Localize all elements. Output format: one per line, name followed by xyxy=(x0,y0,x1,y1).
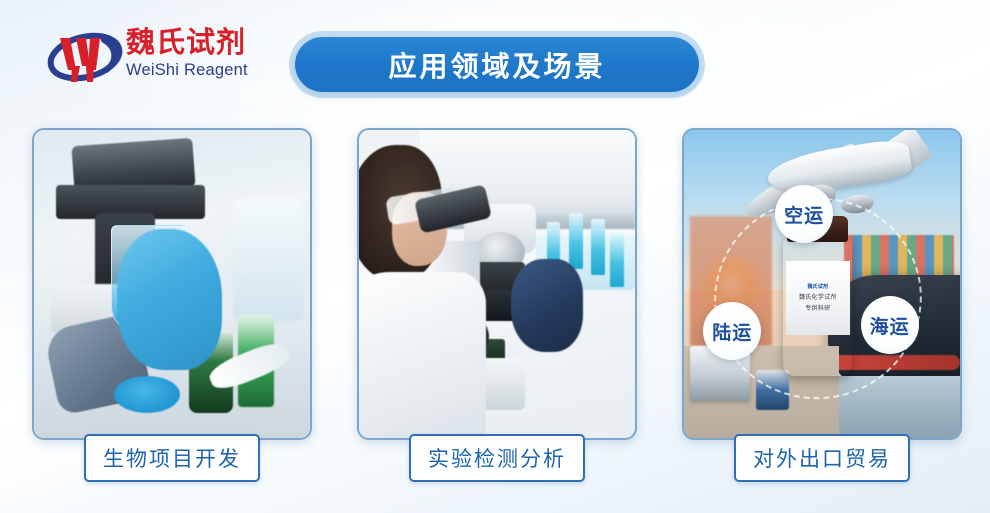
bio-project-photo xyxy=(34,130,310,438)
card-label-export-trade-text: 对外出口贸易 xyxy=(753,443,891,473)
export-trade-photo: 魏氏试剂 魏氏化学试剂 专供科研 空运 陆运 海运 xyxy=(684,130,960,438)
brand-name-en: WeiShi Reagent xyxy=(126,60,276,80)
brand-name-cn: 魏氏试剂 xyxy=(126,26,276,58)
brand-logo-text: 魏氏试剂 WeiShi Reagent xyxy=(126,26,276,88)
badge-air-label: 空运 xyxy=(784,201,824,228)
card-label-bio-project[interactable]: 生物项目开发 xyxy=(84,434,260,482)
bottle-brand-text: 魏氏试剂 xyxy=(807,283,828,290)
card-label-bio-project-text: 生物项目开发 xyxy=(103,443,241,473)
bottle-line-1: 魏氏化学试剂 xyxy=(799,292,837,301)
section-title-banner: 应用领域及场景 xyxy=(295,37,699,92)
page-title: 应用领域及场景 xyxy=(388,45,605,85)
scenario-card-lab-analysis[interactable] xyxy=(357,128,637,440)
card-label-lab-analysis-text: 实验检测分析 xyxy=(428,443,566,473)
scenario-card-grid: 魏氏试剂 魏氏化学试剂 专供科研 空运 陆运 海运 xyxy=(0,128,990,448)
scenario-card-bio-project[interactable] xyxy=(32,128,312,440)
bottle-line-2: 专供科研 xyxy=(805,303,830,312)
poster-canvas: 魏氏试剂 WeiShi Reagent 应用领域及场景 xyxy=(0,0,990,513)
card-label-export-trade[interactable]: 对外出口贸易 xyxy=(734,434,910,482)
card-label-lab-analysis[interactable]: 实验检测分析 xyxy=(409,434,585,482)
reagent-bottle-label: 魏氏试剂 魏氏化学试剂 专供科研 xyxy=(786,261,849,335)
weishi-w-swoosh-icon xyxy=(46,26,124,88)
badge-sea-label: 海运 xyxy=(870,312,910,339)
scenario-card-export-trade[interactable]: 魏氏试剂 魏氏化学试剂 专供科研 空运 陆运 海运 xyxy=(682,128,962,440)
page-header: 魏氏试剂 WeiShi Reagent 应用领域及场景 xyxy=(0,0,990,118)
brand-logo[interactable]: 魏氏试剂 WeiShi Reagent xyxy=(46,24,271,90)
badge-sea-freight: 海运 xyxy=(861,296,919,354)
lab-analysis-photo xyxy=(359,130,635,438)
badge-land-label: 陆运 xyxy=(712,318,752,345)
